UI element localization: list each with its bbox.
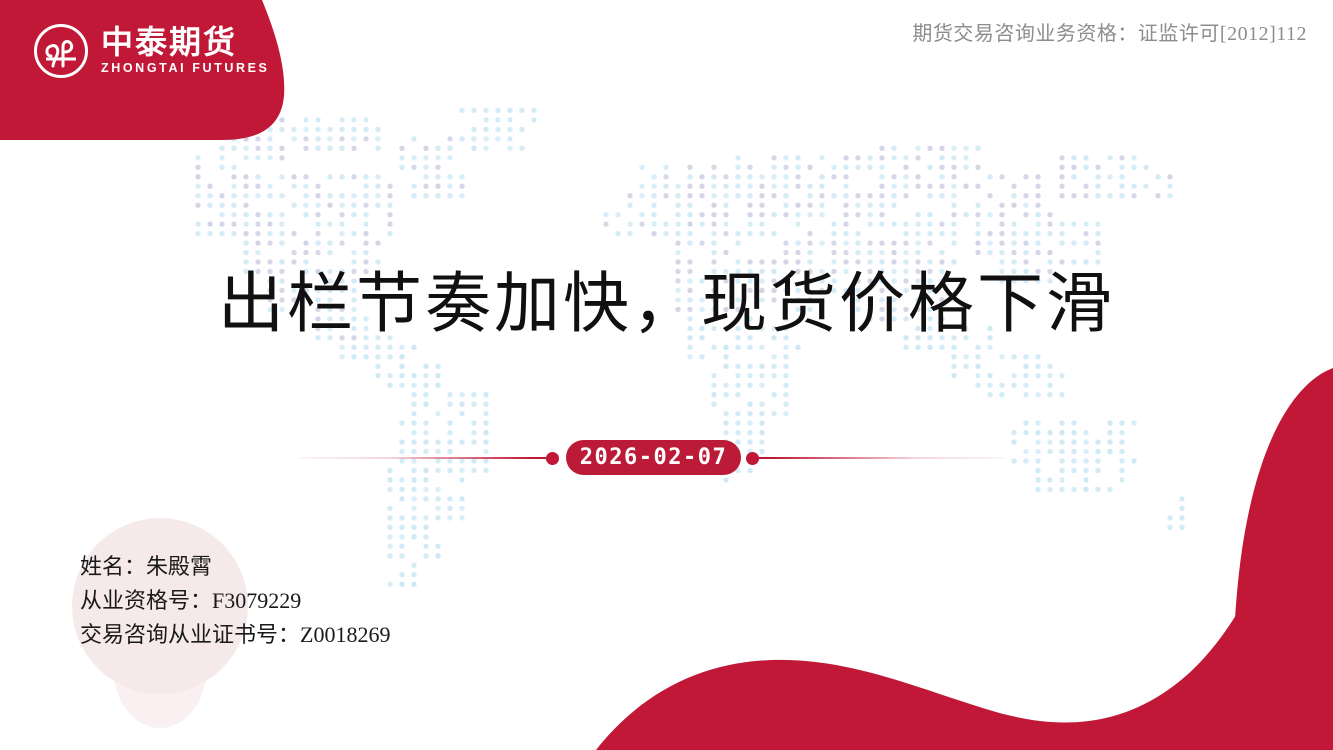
logo-company-cn: 中泰期货	[101, 26, 269, 60]
certificate-text: 期货交易咨询业务资格：证监许可[2012]112	[912, 17, 1307, 46]
rule-dot-left	[546, 452, 559, 465]
author-qualification-line: 从业资格号：F3079229	[80, 584, 390, 618]
brand-logo: 中泰期货 ZHONGTAI FUTURES	[33, 23, 269, 79]
date-row: 2026-02-07	[0, 440, 1333, 476]
decorative-rule-left	[300, 457, 552, 459]
author-info: 姓名：朱殿霄 从业资格号：F3079229 交易咨询从业证书号：Z0018269	[80, 550, 390, 652]
title-slide: 期货交易咨询业务资格：证监许可[2012]112 中泰期货 ZHONGTAI F…	[0, 0, 1333, 750]
logo-text-block: 中泰期货 ZHONGTAI FUTURES	[101, 26, 269, 77]
right-edge-shape	[1231, 368, 1333, 750]
bottom-wave-shape	[596, 372, 1333, 750]
author-name-line: 姓名：朱殿霄	[80, 550, 390, 584]
page-title: 出栏节奏加快，现货价格下滑	[0, 272, 1333, 338]
decorative-rule-right	[752, 457, 1004, 459]
zhongtai-emblem-icon	[33, 23, 89, 79]
logo-company-en: ZHONGTAI FUTURES	[101, 61, 269, 76]
date-badge: 2026-02-07	[566, 440, 741, 475]
author-consulting-line: 交易咨询从业证书号：Z0018269	[80, 618, 390, 652]
rule-dot-right	[746, 452, 759, 465]
